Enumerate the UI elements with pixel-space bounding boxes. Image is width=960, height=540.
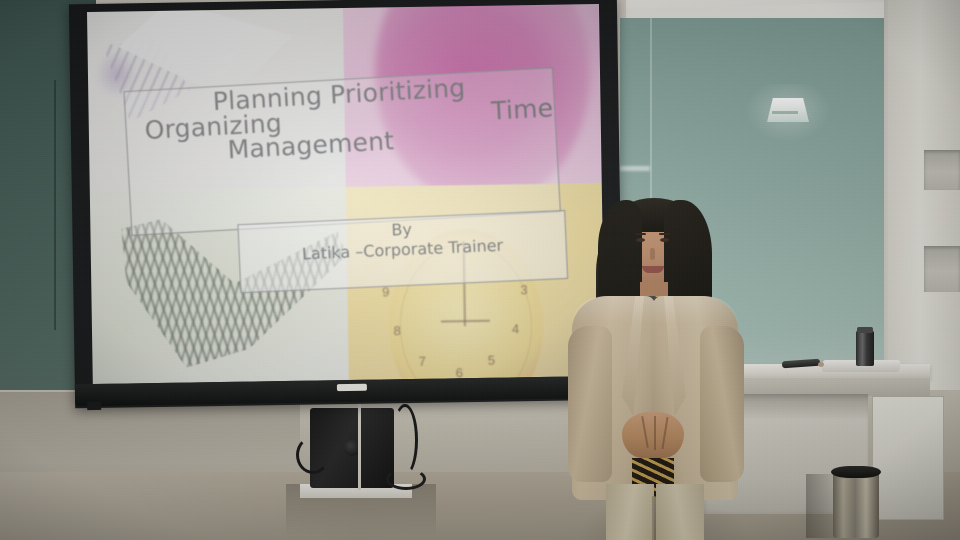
presenter [560, 196, 750, 540]
power-cable-left [296, 436, 330, 474]
photo-scene: 9 8 7 6 5 4 3 Planning Prioritizing Orga… [0, 0, 960, 540]
shelf-niche-lower [924, 246, 960, 292]
presentation-slide: 9 8 7 6 5 4 3 Planning Prioritizing Orga… [87, 4, 605, 384]
shoulder-highlight [572, 296, 738, 324]
power-cable-right [392, 404, 418, 476]
screen-leg-left [87, 402, 101, 410]
metal-trash-bin-icon[interactable] [833, 470, 879, 538]
clock-number-9: 9 [382, 285, 389, 300]
eyebrow-left [635, 233, 646, 235]
remote-control-tip [818, 362, 824, 367]
finger-line-2 [654, 416, 656, 450]
floor-sheen [0, 472, 520, 540]
trouser-left [606, 484, 654, 540]
wall-light-fixture-icon [767, 98, 809, 122]
eyebrow-right [659, 233, 670, 235]
slide-title: Planning Prioritizing Organizing Time Ma… [124, 67, 562, 236]
thermos-flask-icon[interactable] [856, 330, 874, 366]
screen-pull-cord[interactable] [358, 398, 361, 490]
clasped-hands [622, 412, 684, 458]
slide-subtitle: By Latika –Corporate Trainer [238, 210, 568, 293]
title-line-2-right: Time [491, 94, 554, 124]
trouser-seam [652, 496, 656, 540]
screen-pull-tab[interactable] [337, 384, 367, 391]
trouser-right [656, 484, 704, 540]
projection-surface: 9 8 7 6 5 4 3 Planning Prioritizing Orga… [87, 4, 605, 384]
cabinet-door[interactable] [872, 396, 944, 520]
wall-seam [54, 80, 56, 330]
sleeve-right [700, 326, 744, 482]
trash-bin-lid[interactable] [831, 466, 881, 478]
thermos-cap [857, 327, 873, 333]
sleeve-left [568, 326, 612, 482]
clock-number-8: 8 [393, 323, 400, 338]
projection-screen[interactable]: 9 8 7 6 5 4 3 Planning Prioritizing Orga… [69, 0, 623, 408]
wall-light-bar [772, 111, 798, 114]
clock-number-7: 7 [419, 354, 426, 369]
clock-number-4: 4 [512, 321, 519, 336]
shelf-niche-upper [924, 150, 960, 190]
glass-glint [620, 166, 650, 171]
nose [650, 248, 655, 260]
eye-left [636, 238, 645, 242]
mouth [642, 266, 664, 273]
power-cable-floor [386, 468, 426, 490]
clock-number-5: 5 [488, 353, 495, 368]
clock-number-3: 3 [520, 283, 527, 298]
eye-right [660, 238, 669, 242]
